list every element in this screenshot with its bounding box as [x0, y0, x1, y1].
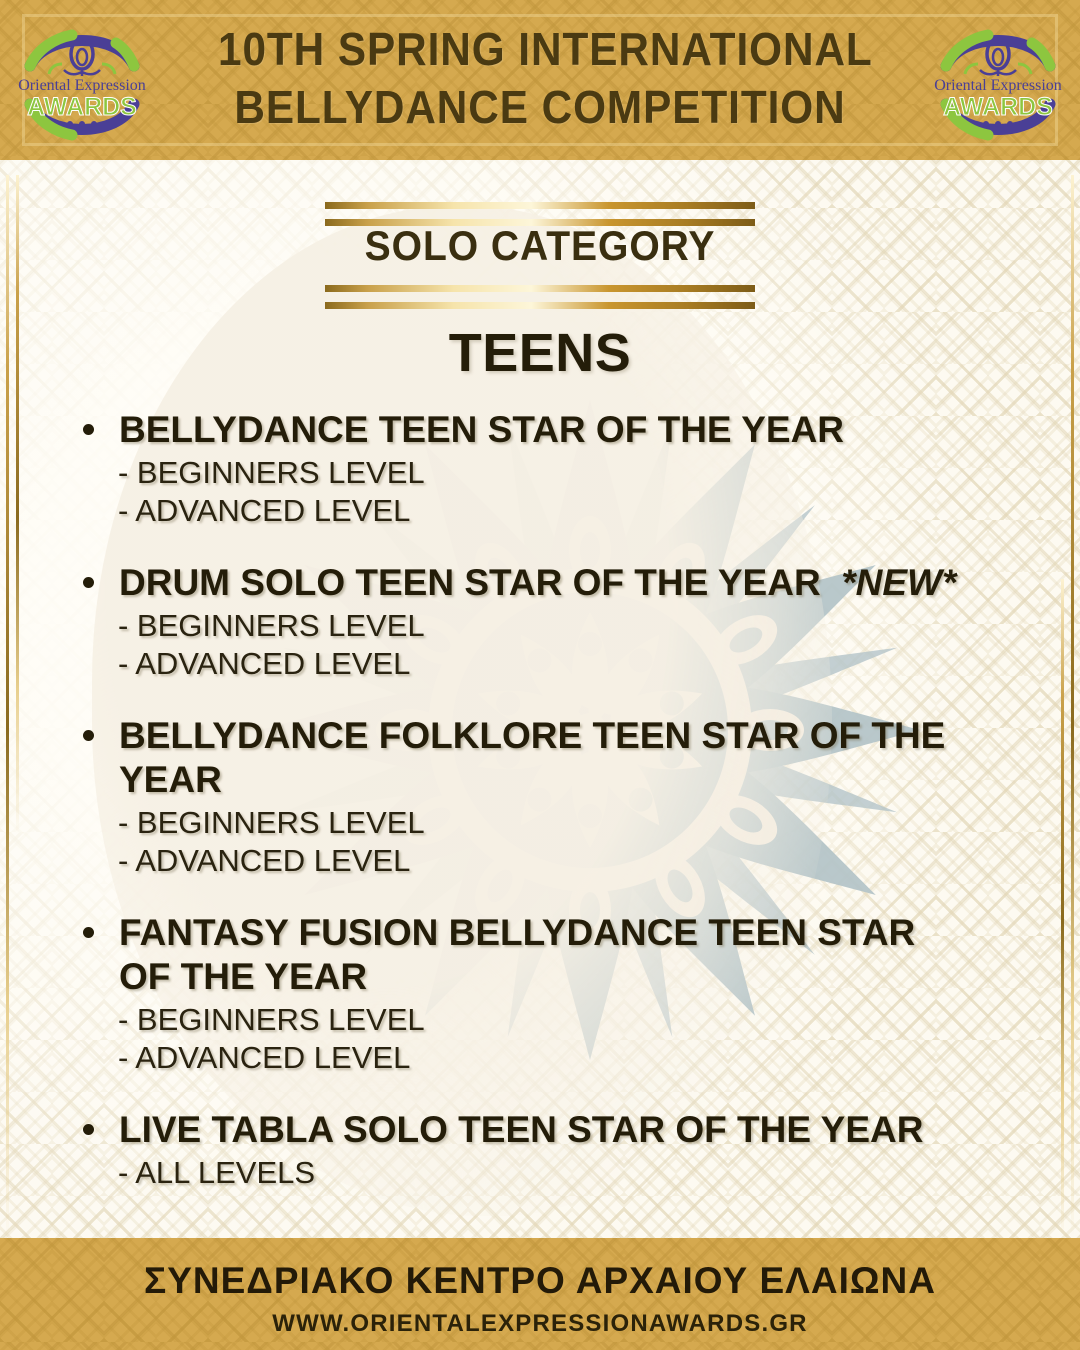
- level-item: - ADVANCED LEVEL: [118, 1039, 1040, 1077]
- level-item: - BEGINNERS LEVEL: [118, 1001, 1040, 1039]
- level-list: - ALL LEVELS: [118, 1154, 1040, 1192]
- website-url[interactable]: WWW.ORIENTALEXPRESSIONAWARDS.GR: [0, 1310, 1080, 1338]
- svg-text:Oriental Expression: Oriental Expression: [934, 77, 1062, 94]
- level-item: - ALL LEVELS: [118, 1154, 1040, 1192]
- venue-name: ΣΥΝΕΔΡΙΑΚΟ ΚΕΝΤΡΟ ΑΡΧΑΙΟΥ ΕΛΑΙΩΝΑ: [0, 1260, 1080, 1302]
- level-item: - ADVANCED LEVEL: [118, 492, 1040, 530]
- category-title-text: DRUM SOLO TEEN STAR OF THE YEAR: [119, 562, 821, 603]
- footer-band: ΣΥΝΕΔΡΙΑΚΟ ΚΕΝΤΡΟ ΑΡΧΑΙΟΥ ΕΛΑΙΩΝΑ WWW.OR…: [0, 1238, 1080, 1350]
- level-item: - BEGINNERS LEVEL: [118, 804, 1040, 842]
- title-line-2: BELLYDANCE COMPETITION: [218, 78, 862, 136]
- svg-text:AWARDS: AWARDS: [27, 93, 137, 121]
- title-line-1: 10TH SPRING INTERNATIONAL: [218, 20, 862, 78]
- category-title: BELLYDANCE TEEN STAR OF THE YEAR: [119, 408, 844, 452]
- poster-title: 10TH SPRING INTERNATIONAL BELLYDANCE COM…: [218, 20, 862, 136]
- category-title-text: BELLYDANCE TEEN STAR OF THE YEAR: [119, 409, 844, 450]
- level-item: - BEGINNERS LEVEL: [118, 607, 1040, 645]
- category-title: DRUM SOLO TEEN STAR OF THE YEAR *NEW*: [119, 561, 956, 605]
- bullet-icon: [83, 424, 94, 435]
- bullet-icon: [83, 730, 94, 741]
- list-item: LIVE TABLA SOLO TEEN STAR OF THE YEAR - …: [78, 1108, 1040, 1192]
- category-list: BELLYDANCE TEEN STAR OF THE YEAR - BEGIN…: [78, 408, 1040, 1192]
- category-title: BELLYDANCE FOLKLORE TEEN STAR OF THE YEA…: [119, 714, 1040, 802]
- bullet-icon: [83, 577, 94, 588]
- new-badge: *NEW*: [841, 562, 956, 603]
- category-title-text: FANTASY FUSION BELLYDANCE TEEN STAR OF T…: [119, 912, 915, 997]
- section-heading: SOLO CATEGORY: [38, 222, 1042, 270]
- level-item: - BEGINNERS LEVEL: [118, 454, 1040, 492]
- level-list: - BEGINNERS LEVEL - ADVANCED LEVEL: [118, 804, 1040, 880]
- level-list: - BEGINNERS LEVEL - ADVANCED LEVEL: [118, 607, 1040, 683]
- bullet-icon: [83, 927, 94, 938]
- svg-text:AWARDS: AWARDS: [943, 93, 1053, 121]
- level-item: - ADVANCED LEVEL: [118, 645, 1040, 683]
- awards-logo-right-icon: Oriental Expression AWARDS: [928, 14, 1068, 150]
- level-list: - BEGINNERS LEVEL - ADVANCED LEVEL: [118, 454, 1040, 530]
- list-item: BELLYDANCE FOLKLORE TEEN STAR OF THE YEA…: [78, 714, 1040, 880]
- svg-text:Oriental Expression: Oriental Expression: [18, 77, 146, 94]
- section-subheading: TEENS: [0, 322, 1080, 384]
- category-title-text: BELLYDANCE FOLKLORE TEEN STAR OF THE YEA…: [119, 715, 945, 800]
- gold-rules-bottom: [325, 285, 755, 309]
- level-list: - BEGINNERS LEVEL - ADVANCED LEVEL: [118, 1001, 1040, 1077]
- level-item: - ADVANCED LEVEL: [118, 842, 1040, 880]
- category-title: FANTASY FUSION BELLYDANCE TEEN STAR OF T…: [119, 911, 919, 999]
- list-item: FANTASY FUSION BELLYDANCE TEEN STAR OF T…: [78, 911, 1040, 1077]
- bullet-icon: [83, 1124, 94, 1135]
- category-title: LIVE TABLA SOLO TEEN STAR OF THE YEAR: [119, 1108, 923, 1152]
- list-item: DRUM SOLO TEEN STAR OF THE YEAR *NEW* - …: [78, 561, 1040, 683]
- list-item: BELLYDANCE TEEN STAR OF THE YEAR - BEGIN…: [78, 408, 1040, 530]
- category-title-text: LIVE TABLA SOLO TEEN STAR OF THE YEAR: [119, 1109, 923, 1150]
- header-band: Oriental Expression AWARDS 10TH SPRING I…: [0, 0, 1080, 160]
- poster-canvas: Oriental Expression AWARDS 10TH SPRING I…: [0, 0, 1080, 1350]
- awards-logo-left-icon: Oriental Expression AWARDS: [12, 14, 152, 150]
